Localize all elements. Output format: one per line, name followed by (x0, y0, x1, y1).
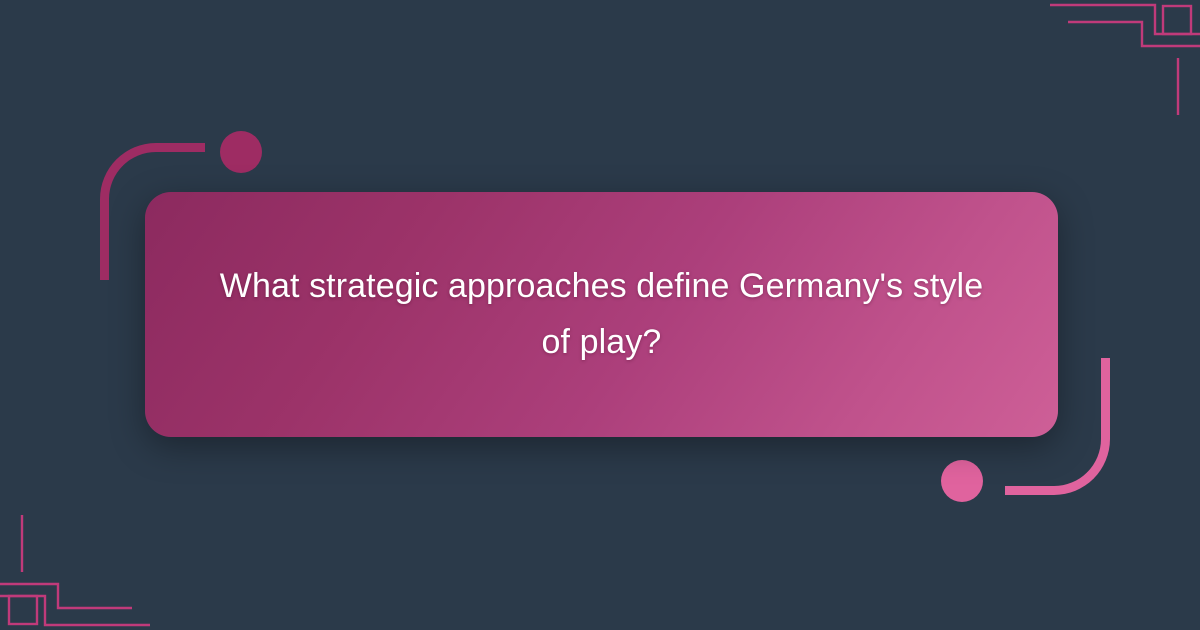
question-card: What strategic approaches define Germany… (145, 192, 1058, 437)
question-text: What strategic approaches define Germany… (203, 259, 1000, 369)
accent-dot-bottom-right (941, 460, 983, 502)
accent-dot-top-left (220, 131, 262, 173)
question-card-graphic: What strategic approaches define Germany… (0, 0, 1200, 630)
